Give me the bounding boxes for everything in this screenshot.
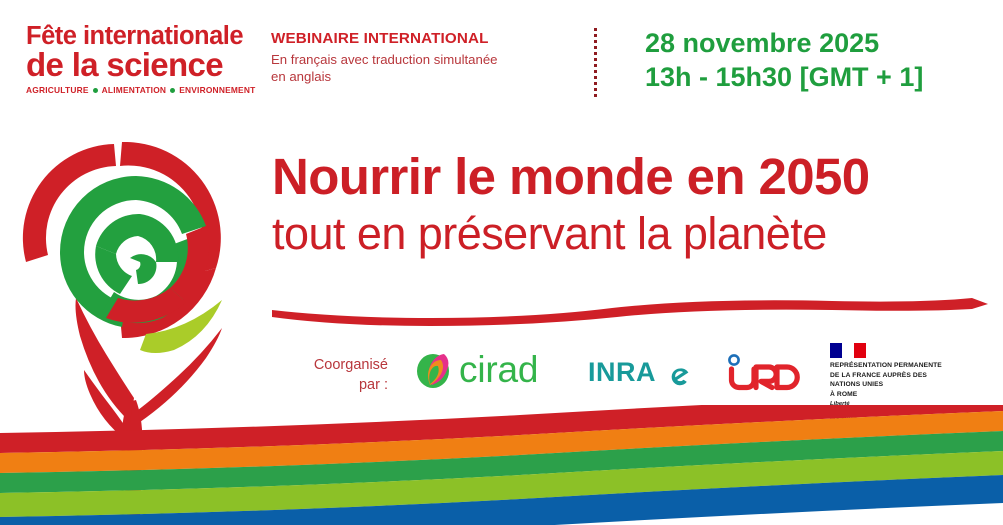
bullet-dot-icon — [170, 88, 175, 93]
bullet-dot-icon — [93, 88, 98, 93]
vertical-dotted-separator — [594, 28, 597, 100]
webinar-title: WEBINAIRE INTERNATIONAL — [271, 30, 561, 47]
event-banner: Fête internationale de la science AGRICU… — [0, 0, 1003, 525]
coorganised-line1: Coorganisé — [278, 356, 388, 376]
headline-main: Nourrir le monde en 2050 — [272, 150, 992, 203]
fis-tagline-agriculture: AGRICULTURE — [26, 85, 89, 95]
representation-line3: NATIONS UNIES — [830, 380, 990, 390]
schedule-block: 28 novembre 2025 13h - 15h30 [GMT + 1] — [645, 26, 923, 94]
fis-logo-line2: de la science — [26, 49, 262, 81]
headline-block: Nourrir le monde en 2050 tout en préserv… — [272, 150, 992, 258]
fis-tagline-alimentation: ALIMENTATION — [102, 85, 167, 95]
event-time: 13h - 15h30 [GMT + 1] — [645, 60, 923, 94]
representation-line1: REPRÉSENTATION PERMANENTE — [830, 361, 990, 371]
event-date: 28 novembre 2025 — [645, 26, 923, 60]
inrae-logo[interactable]: INRA — [588, 357, 702, 387]
coorganised-label: Coorganisé par : — [278, 356, 388, 395]
wavy-divider — [272, 292, 988, 326]
representation-text: REPRÉSENTATION PERMANENTE DE LA FRANCE A… — [830, 361, 990, 399]
fis-tagline: AGRICULTURE ALIMENTATION ENVIRONNEMENT — [26, 85, 262, 95]
coorganised-line2: par : — [278, 376, 388, 396]
svg-text:INRA: INRA — [588, 357, 656, 387]
webinar-subtitle: En français avec traduction simultanée e… — [271, 51, 561, 86]
french-flag-icon — [830, 343, 866, 358]
fete-science-logo: Fête internationale de la science AGRICU… — [26, 24, 262, 95]
cirad-logo[interactable]: cirad — [414, 348, 538, 390]
headline-sub: tout en préservant la planète — [272, 210, 992, 258]
webinar-subtitle-line1: En français avec traduction simultanée — [271, 51, 561, 68]
representation-line4: À ROME — [830, 390, 990, 400]
fis-logo-line1: Fête internationale — [26, 24, 262, 48]
rainbow-wave-graphic — [0, 405, 1003, 525]
cirad-leaf-icon — [414, 348, 452, 390]
ird-logo[interactable] — [725, 353, 803, 391]
webinar-block: WEBINAIRE INTERNATIONAL En français avec… — [271, 30, 561, 86]
partners-row: Coorganisé par : cirad INRA — [278, 340, 990, 410]
cirad-wordmark: cirad — [459, 351, 538, 388]
fis-tagline-environnement: ENVIRONNEMENT — [179, 85, 255, 95]
representation-line2: DE LA FRANCE AUPRÈS DES — [830, 371, 990, 381]
inrae-e-glyph — [672, 368, 689, 385]
webinar-subtitle-line2: en anglais — [271, 68, 561, 85]
